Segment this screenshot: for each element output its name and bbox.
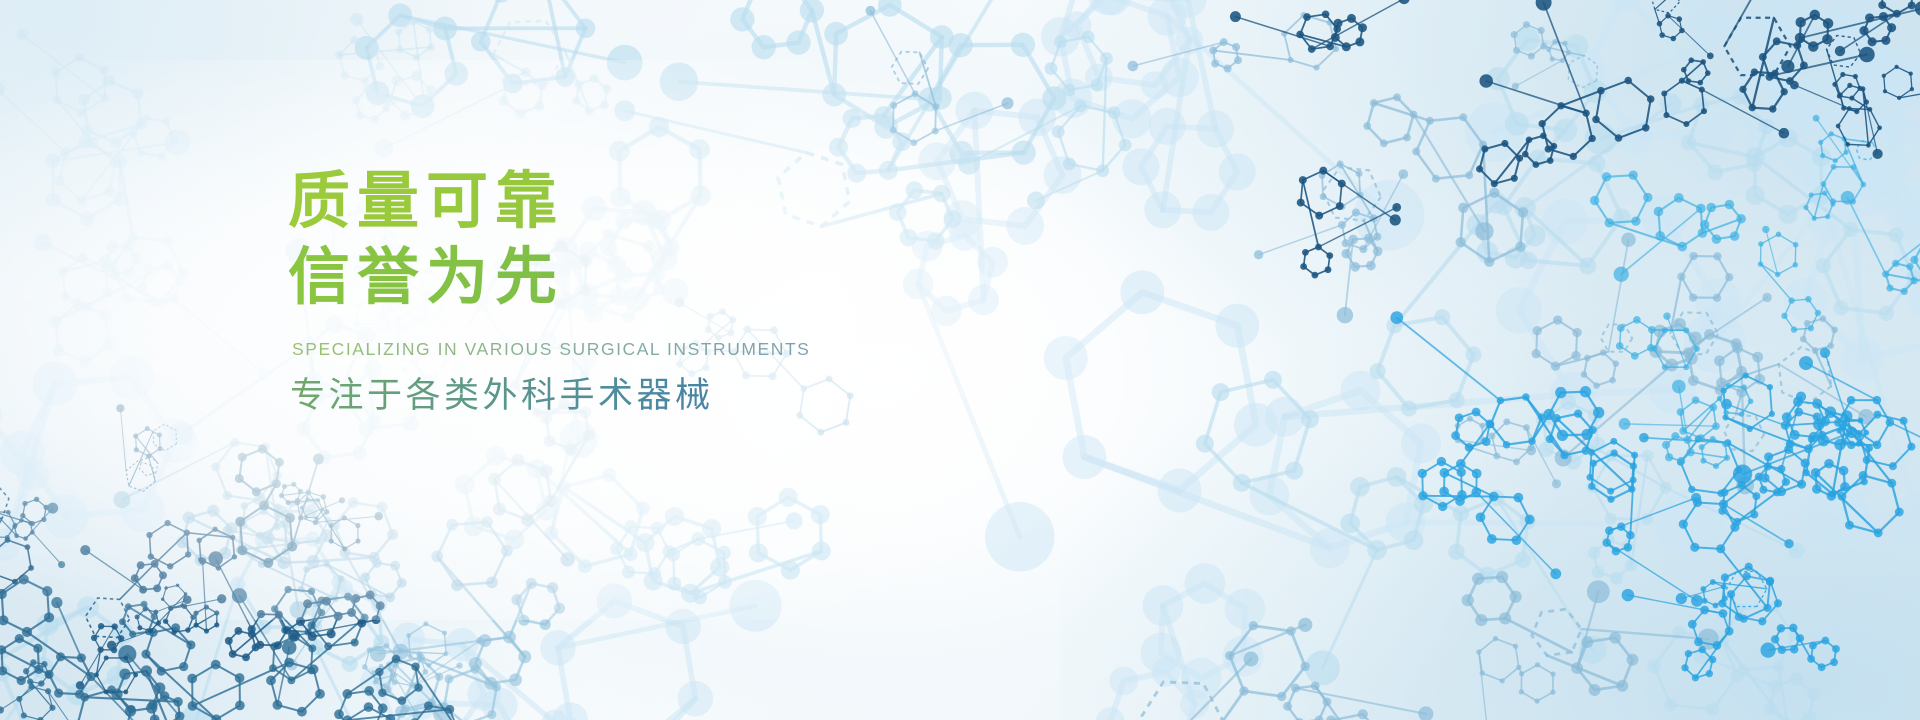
headline-line-2: 信誉为先 [288, 242, 1048, 312]
hero-banner: 质量可靠 信誉为先 SPECIALIZING IN VARIOUS SURGIC… [0, 0, 1920, 720]
headline-line-1: 质量可靠 [288, 166, 1048, 236]
banner-copy-block: 质量可靠 信誉为先 SPECIALIZING IN VARIOUS SURGIC… [288, 166, 1048, 418]
subtitle-english: SPECIALIZING IN VARIOUS SURGICAL INSTRUM… [292, 338, 1048, 360]
subtitle-chinese: 专注于各类外科手术器械 [290, 374, 1048, 418]
